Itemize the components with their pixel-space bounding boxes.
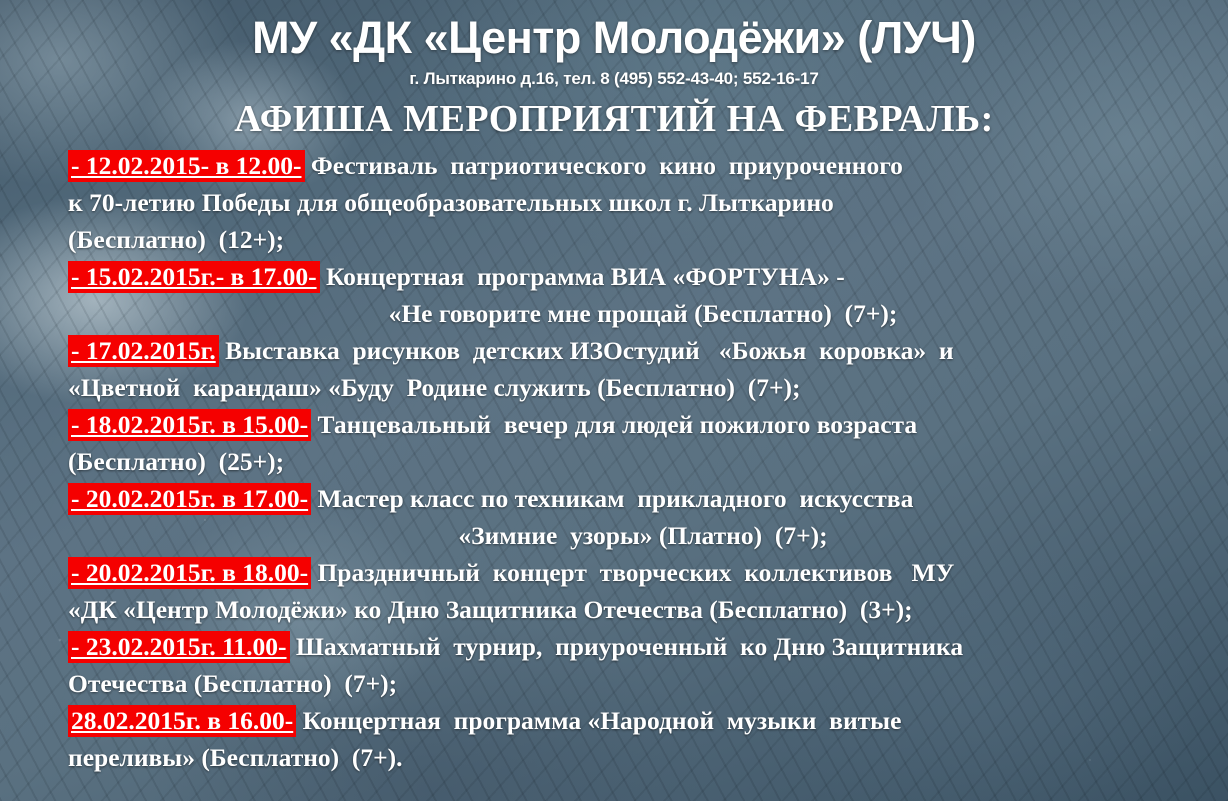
event-item: - 12.02.2015- в 12.00- Фестиваль патриот… [68, 147, 1218, 258]
event-line-continuation: «ДК «Центр Молодёжи» ко Дню Защитника От… [68, 591, 1218, 628]
event-line-continuation: «Не говорите мне прощай (Бесплатно) (7+)… [68, 295, 1218, 332]
event-item: - 18.02.2015г. в 15.00- Танцевальный веч… [68, 406, 1218, 480]
event-date-badge: - 17.02.2015г. [68, 335, 219, 367]
event-date-badge: - 20.02.2015г. в 17.00- [68, 483, 311, 515]
event-line-continuation: «Зимние узоры» (Платно) (7+); [68, 517, 1218, 554]
event-item: - 15.02.2015г.- в 17.00- Концертная прог… [68, 258, 1218, 332]
event-line-continuation: переливы» (Бесплатно) (7+). [68, 739, 1218, 776]
event-item: - 17.02.2015г. Выставка рисунков детских… [68, 332, 1218, 406]
event-description: Выставка рисунков детских ИЗОстудий «Бож… [219, 336, 954, 365]
event-line-continuation: (Бесплатно) (12+); [68, 221, 1218, 258]
event-line-primary: - 15.02.2015г.- в 17.00- Концертная прог… [68, 258, 1218, 295]
event-description: Мастер класс по техникам прикладного иск… [311, 484, 913, 513]
page-title: АФИША МЕРОПРИЯТИЙ НА ФЕВРАЛЬ: [0, 97, 1228, 141]
event-line-primary: - 20.02.2015г. в 18.00- Праздничный конц… [68, 554, 1218, 591]
events-list: - 12.02.2015- в 12.00- Фестиваль патриот… [0, 147, 1228, 776]
event-line-continuation: (Бесплатно) (25+); [68, 443, 1218, 480]
event-line-continuation: Отечества (Бесплатно) (7+); [68, 665, 1218, 702]
event-date-badge: - 23.02.2015г. 11.00- [68, 631, 290, 663]
event-line-primary: - 20.02.2015г. в 17.00- Мастер класс по … [68, 480, 1218, 517]
event-line-primary: - 18.02.2015г. в 15.00- Танцевальный веч… [68, 406, 1218, 443]
event-description: Концертная программа «Народной музыки ви… [296, 706, 901, 735]
event-line-primary: - 17.02.2015г. Выставка рисунков детских… [68, 332, 1218, 369]
event-line-continuation: «Цветной карандаш» «Буду Родине служить … [68, 369, 1218, 406]
event-date-badge: - 20.02.2015г. в 18.00- [68, 557, 311, 589]
event-line-primary: - 12.02.2015- в 12.00- Фестиваль патриот… [68, 147, 1218, 184]
event-item: 28.02.2015г. в 16.00- Концертная програм… [68, 702, 1218, 776]
event-item: - 20.02.2015г. в 17.00- Мастер класс по … [68, 480, 1218, 554]
event-description: Праздничный концерт творческих коллектив… [311, 558, 954, 587]
event-description: Концертная программа ВИА «ФОРТУНА» - [320, 262, 845, 291]
event-date-badge: - 12.02.2015- в 12.00- [68, 150, 305, 182]
organization-title: МУ «ДК «Центр Молодёжи» (ЛУЧ) [0, 0, 1228, 63]
event-description: Шахматный турнир, приуроченный ко Дню За… [290, 632, 964, 661]
event-description: Фестиваль патриотического кино приурочен… [305, 151, 903, 180]
event-description: Танцевальный вечер для людей пожилого во… [311, 410, 917, 439]
event-date-badge: - 18.02.2015г. в 15.00- [68, 409, 311, 441]
event-date-badge: - 15.02.2015г.- в 17.00- [68, 261, 320, 293]
event-date-badge: 28.02.2015г. в 16.00- [68, 705, 296, 737]
event-item: - 20.02.2015г. в 18.00- Праздничный конц… [68, 554, 1218, 628]
event-line-continuation: к 70-летию Победы для общеобразовательны… [68, 184, 1218, 221]
event-line-primary: - 23.02.2015г. 11.00- Шахматный турнир, … [68, 628, 1218, 665]
event-item: - 23.02.2015г. 11.00- Шахматный турнир, … [68, 628, 1218, 702]
poster-content: МУ «ДК «Центр Молодёжи» (ЛУЧ) г. Лыткари… [0, 0, 1228, 801]
organization-address: г. Лыткарино д.16, тел. 8 (495) 552-43-4… [0, 69, 1228, 89]
event-line-primary: 28.02.2015г. в 16.00- Концертная програм… [68, 702, 1218, 739]
